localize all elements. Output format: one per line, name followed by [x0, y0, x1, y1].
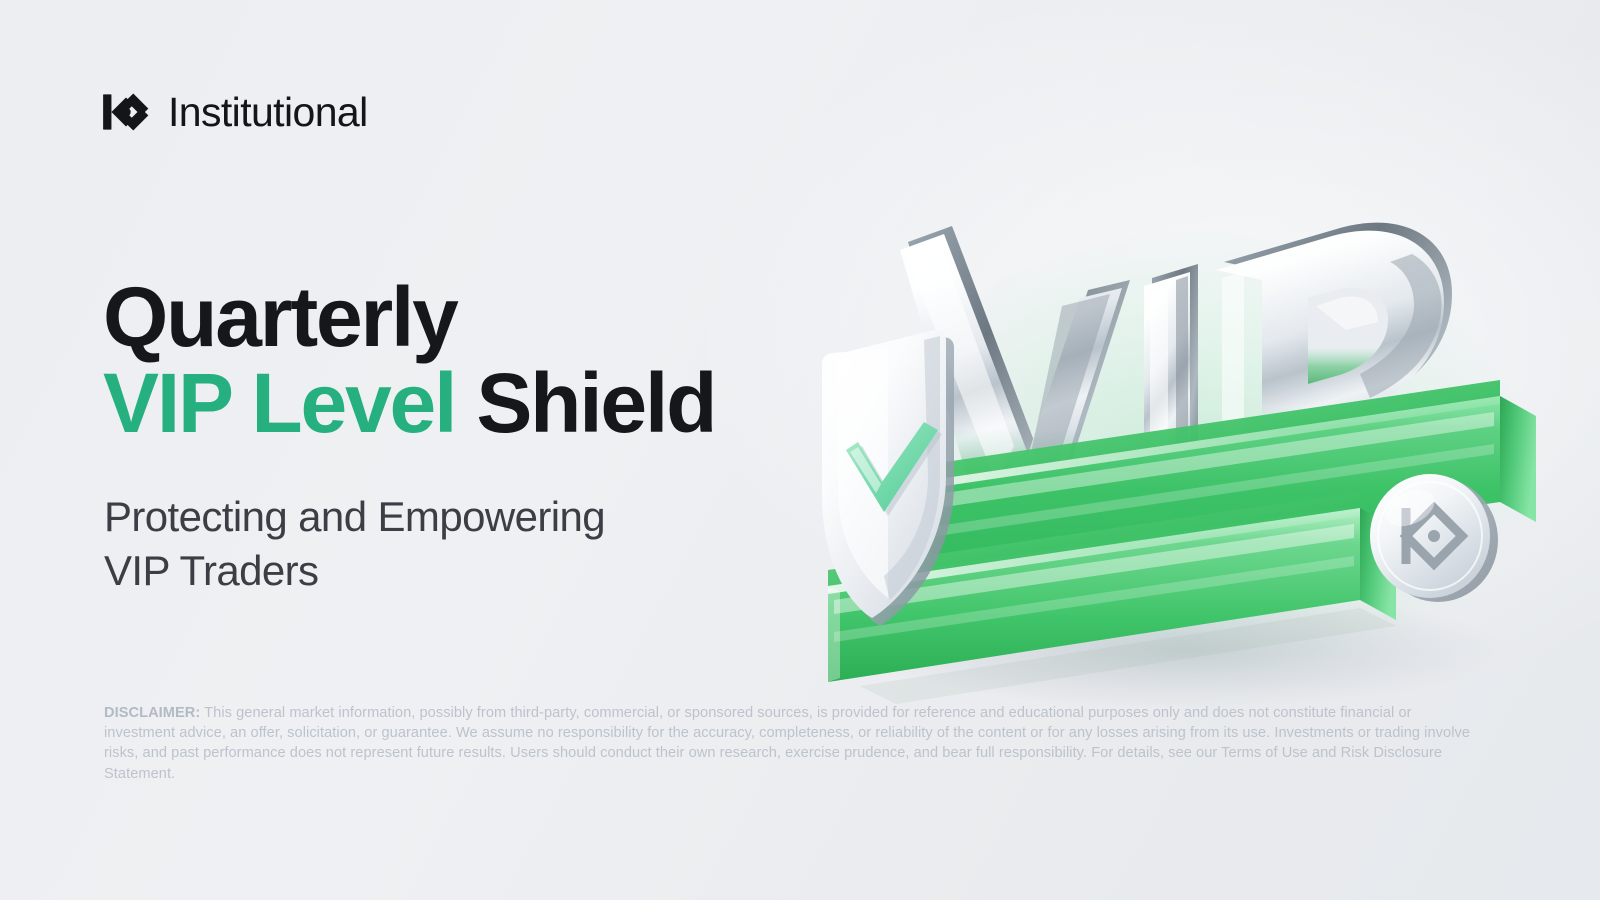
brand-wordmark: Institutional	[168, 92, 368, 133]
headline-accent: VIP Level	[103, 356, 455, 450]
disclaimer-label: DISCLAIMER:	[104, 705, 200, 721]
promo-banner: Institutional Quarterly VIP Level Shield…	[0, 0, 1600, 900]
headline-line-1: Quarterly	[103, 275, 715, 361]
page-subtitle: Protecting and Empowering VIP Traders	[104, 490, 605, 598]
kucoin-k-diamond-icon	[100, 86, 152, 138]
disclaimer-text: DISCLAIMER: This general market informat…	[104, 703, 1478, 785]
disclaimer-body: This general market information, possibl…	[104, 705, 1470, 782]
subtitle-line-2: VIP Traders	[104, 544, 605, 598]
headline-rest: Shield	[455, 356, 715, 450]
headline-line-2: VIP Level Shield	[103, 361, 715, 447]
brand-lockup: Institutional	[100, 86, 368, 138]
page-title: Quarterly VIP Level Shield	[103, 275, 715, 446]
vip-shield-3d-artwork	[800, 130, 1560, 710]
subtitle-line-1: Protecting and Empowering	[104, 490, 605, 544]
